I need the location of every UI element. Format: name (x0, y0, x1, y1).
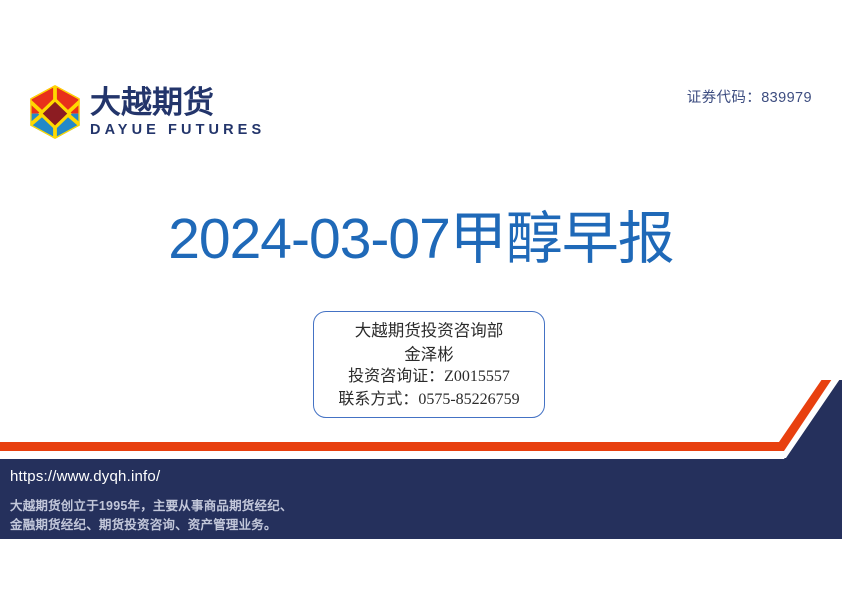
footer-decorative-bands (0, 380, 842, 595)
company-description-line-2: 金融期货经纪、期货投资咨询、资产管理业务。 (10, 516, 293, 535)
company-description: 大越期货创立于1995年，主要从事商品期货经纪、 金融期货经纪、期货投资咨询、资… (10, 497, 293, 535)
page-title: 2024-03-07甲醇早报 (0, 206, 842, 273)
dayue-hexagon-logo-icon (28, 84, 82, 140)
company-website-url[interactable]: https://www.dyqh.info/ (10, 468, 160, 485)
brand-name-en: DAYUE FUTURES (90, 123, 265, 139)
company-description-line-1: 大越期货创立于1995年，主要从事商品期货经纪、 (10, 497, 293, 516)
brand-logo: 大越期货 DAYUE FUTURES (28, 84, 265, 140)
brand-wordmark: 大越期货 DAYUE FUTURES (90, 87, 265, 138)
securities-code: 证券代码：839979 (687, 86, 812, 107)
report-cover-page: 大越期货 DAYUE FUTURES 证券代码：839979 2024-03-0… (0, 0, 842, 595)
brand-name-cn: 大越期货 (90, 87, 265, 119)
department-label: 大越期货投资咨询部 (355, 319, 504, 342)
orange-accent-line (0, 380, 842, 451)
analyst-name: 金泽彬 (404, 343, 454, 366)
